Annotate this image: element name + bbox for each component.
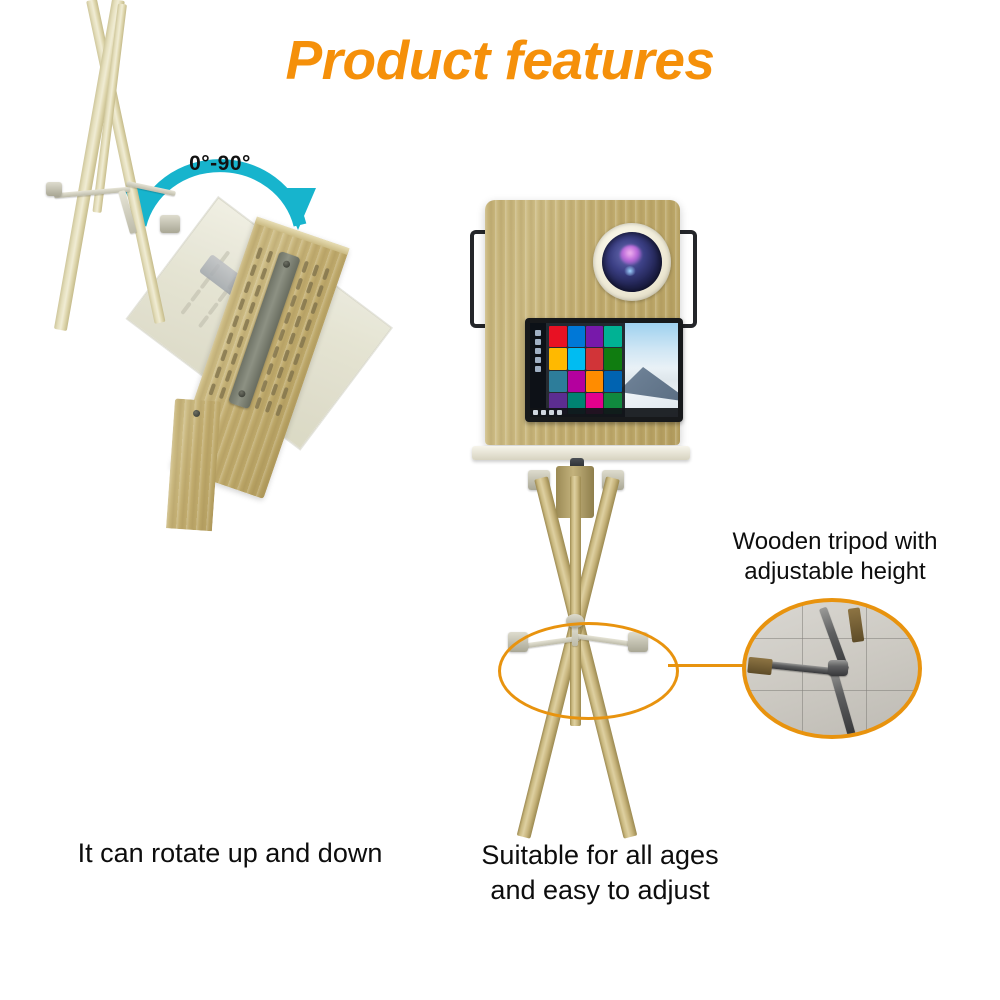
screw-icon: [193, 410, 200, 417]
screw-icon: [237, 389, 246, 398]
start-menu-tile: [586, 326, 603, 347]
infographic-page: Product features 0°-90°: [0, 0, 1000, 1000]
start-menu-tile: [568, 371, 585, 392]
right-caption: Suitable for all ages and easy to adjust: [440, 838, 760, 907]
left-caption: It can rotate up and down: [20, 838, 440, 869]
start-menu-tile: [604, 326, 621, 347]
booth-mount-post: [166, 398, 221, 531]
start-menu-tile: [568, 348, 585, 369]
lens-flare: [620, 245, 642, 265]
lens-barrel: [602, 232, 662, 292]
screw-icon: [282, 260, 291, 269]
right-caption-line2: and easy to adjust: [440, 873, 760, 908]
angle-range-label: 0°-90°: [120, 152, 320, 176]
start-menu-tile: [549, 371, 566, 392]
callout-text: Wooden tripod with adjustable height: [700, 527, 970, 587]
photo-booth-body: [485, 200, 680, 445]
highlight-ellipse-icon: [498, 622, 679, 720]
floor-tile-line: [866, 602, 867, 735]
callout-line2: adjustable height: [700, 557, 970, 587]
callout-line1: Wooden tripod with: [700, 527, 970, 557]
right-caption-line1: Suitable for all ages: [440, 838, 760, 873]
tripod-spreader-detail-icon: [742, 598, 922, 739]
start-menu-tile: [586, 348, 603, 369]
windows-start-menu: [530, 323, 625, 417]
start-menu-tile: [604, 371, 621, 392]
side-handle-icon: [678, 230, 697, 328]
spreader-hub: [828, 660, 848, 676]
page-title: Product features: [0, 28, 1000, 92]
camera-lens-icon: [593, 223, 671, 301]
start-menu-tiles: [546, 323, 625, 417]
floor-tile-line: [746, 690, 918, 691]
tripod-leg-clamp: [160, 215, 180, 233]
start-menu-rail: [530, 323, 546, 417]
start-menu-tile: [604, 348, 621, 369]
windows-taskbar: [530, 408, 678, 417]
start-menu-tile: [549, 348, 566, 369]
right-feature-scene: [430, 170, 760, 850]
lens-glint: [624, 266, 636, 276]
screen-content: [530, 323, 678, 417]
windows-tablet-screen-icon: [525, 318, 683, 422]
start-menu-tile: [568, 326, 585, 347]
tripod-leg-stub: [747, 657, 773, 675]
start-menu-tile: [549, 326, 566, 347]
tripod-leg-clamp: [46, 182, 62, 196]
spreader-arm: [829, 666, 856, 735]
callout-line-icon: [668, 664, 753, 667]
start-menu-tile: [586, 371, 603, 392]
